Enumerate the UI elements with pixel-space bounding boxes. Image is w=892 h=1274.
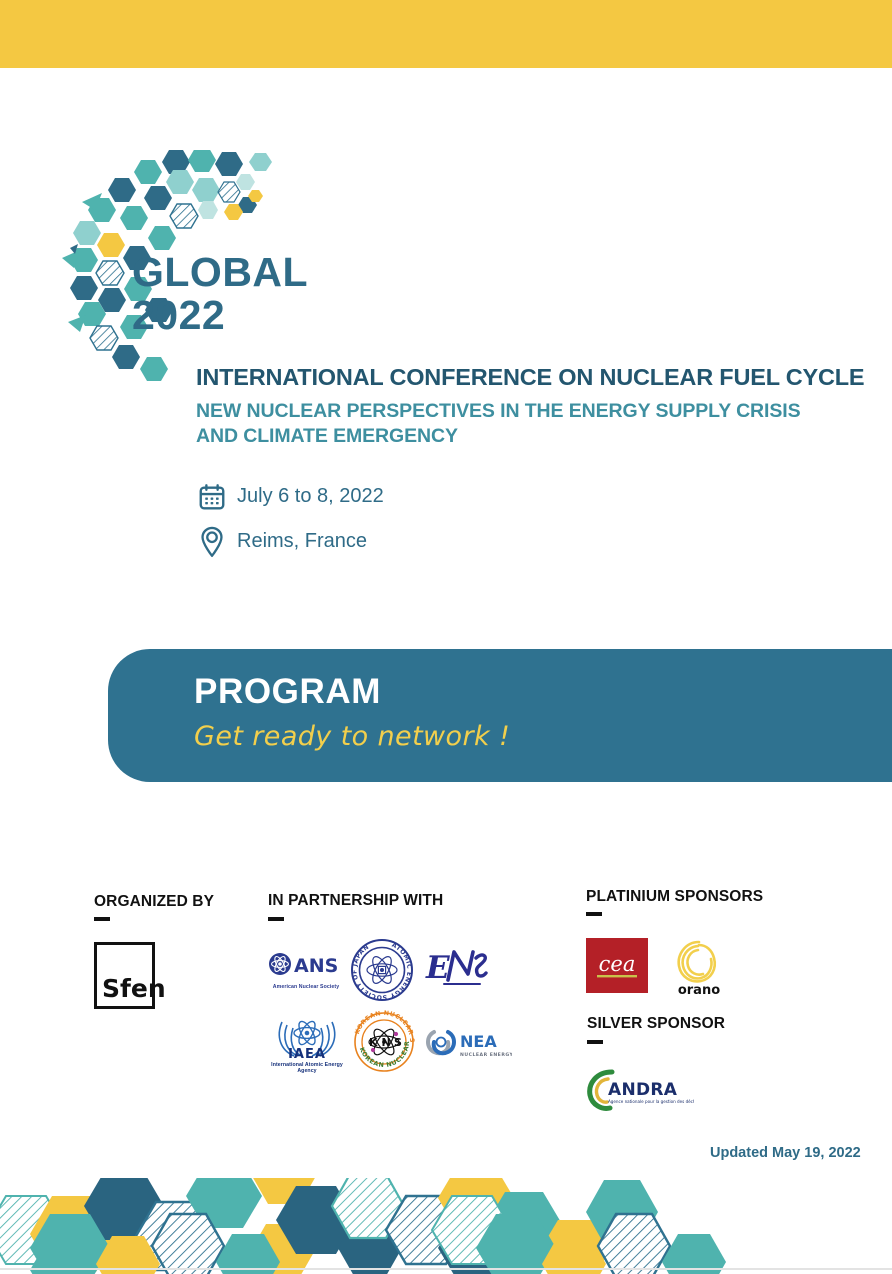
ans-logo[interactable]: ANS American Nuclear Society — [268, 948, 344, 994]
aesj-logo[interactable]: ATOMIC ENERGY SOCIETY OF JAPAN — [350, 938, 414, 1002]
in-partnership-with-heading: IN PARTNERSHIP WITH — [268, 892, 443, 910]
event-date: July 6 to 8, 2022 — [237, 485, 384, 508]
kns-logo[interactable]: K N S KOREAN NUCLEAR SOCIETY KOREAN NUCL… — [352, 1010, 416, 1074]
iaea-logo-mark: IAEA — [268, 1012, 346, 1060]
nea-logo-mark: NEA NUCLEAR ENERGY AGENCY — [424, 1024, 512, 1062]
cea-logo-mark: cea — [586, 938, 648, 993]
ens-logo[interactable]: E — [424, 944, 494, 992]
ens-logo-mark: E — [424, 944, 494, 992]
updated-date: Updated May 19, 2022 — [710, 1145, 861, 1161]
svg-text:IAEA: IAEA — [288, 1047, 326, 1060]
svg-text:ANS: ANS — [294, 955, 338, 977]
location-pin-icon — [192, 525, 232, 559]
aesj-logo-mark: ATOMIC ENERGY SOCIETY OF JAPAN — [350, 938, 414, 1002]
logo-wordmark: GLOBAL 2022 — [132, 253, 308, 334]
event-meta: July 6 to 8, 2022 Reims, France — [192, 474, 384, 564]
logo-name-line2: 2022 — [132, 296, 308, 335]
svg-text:NEA: NEA — [460, 1032, 497, 1051]
organized-by-heading: ORGANIZED BY — [94, 893, 214, 911]
program-banner: PROGRAM Get ready to network ! — [108, 649, 892, 782]
ans-logo-caption: American Nuclear Society — [268, 984, 344, 990]
conference-program-cover: GLOBAL 2022 INTERNATIONAL CONFERENCE ON … — [0, 0, 892, 1274]
svg-text:K: K — [369, 1036, 378, 1049]
andra-logo[interactable]: ANDRA Agence nationale pour la gestion d… — [586, 1068, 694, 1112]
event-location: Reims, France — [237, 530, 367, 553]
ans-logo-mark: ANS — [268, 948, 344, 982]
kns-logo-mark: K N S KOREAN NUCLEAR SOCIETY KOREAN NUCL… — [352, 1010, 416, 1074]
orano-logo-mark: orano — [668, 936, 730, 998]
svg-text:NUCLEAR ENERGY AGENCY: NUCLEAR ENERGY AGENCY — [460, 1052, 512, 1058]
svg-text:cea: cea — [599, 952, 636, 976]
sfen-logo[interactable]: Sfen — [94, 942, 155, 1009]
logo-name-line1: GLOBAL — [132, 253, 308, 292]
sfen-logo-label: Sfen — [102, 974, 166, 1003]
andra-logo-mark: ANDRA Agence nationale pour la gestion d… — [586, 1068, 694, 1112]
conference-subtitle: NEW NUCLEAR PERSPECTIVES IN THE ENERGY S… — [196, 399, 886, 449]
orano-logo[interactable]: orano — [668, 936, 730, 998]
nea-logo[interactable]: NEA NUCLEAR ENERGY AGENCY — [424, 1024, 512, 1062]
svg-text:E: E — [425, 950, 450, 986]
calendar-icon — [192, 482, 232, 512]
silver-sponsor-heading: SILVER SPONSOR — [587, 1015, 725, 1033]
program-banner-tagline: Get ready to network ! — [194, 721, 510, 752]
bottom-divider — [0, 1268, 892, 1270]
conference-subtitle-line2: AND CLIMATE EMERGENCY — [196, 424, 886, 449]
iaea-logo-caption: International Atomic Energy Agency — [268, 1062, 346, 1074]
event-location-row: Reims, France — [192, 519, 384, 564]
iaea-logo[interactable]: IAEA International Atomic Energy Agency — [268, 1012, 346, 1072]
platinium-sponsors-underline — [586, 912, 602, 916]
svg-text:N: N — [382, 1036, 391, 1049]
svg-text:orano: orano — [678, 983, 720, 998]
conference-title: INTERNATIONAL CONFERENCE ON NUCLEAR FUEL… — [196, 364, 886, 391]
platinium-sponsors-heading: PLATINIUM SPONSORS — [586, 888, 763, 906]
svg-text:ANDRA: ANDRA — [608, 1080, 678, 1100]
cea-logo[interactable]: cea — [586, 938, 648, 993]
in-partnership-with-underline — [268, 917, 284, 921]
bottom-hexagon-decoration — [0, 1178, 892, 1274]
svg-text:Agence nationale pour la gesti: Agence nationale pour la gestion des déc… — [608, 1099, 694, 1104]
silver-sponsor-underline — [587, 1040, 603, 1044]
organized-by-underline — [94, 917, 110, 921]
top-yellow-band — [0, 0, 892, 68]
conference-subtitle-line1: NEW NUCLEAR PERSPECTIVES IN THE ENERGY S… — [196, 399, 886, 424]
svg-text:S: S — [394, 1036, 402, 1049]
program-banner-title: PROGRAM — [194, 672, 381, 712]
event-date-row: July 6 to 8, 2022 — [192, 474, 384, 519]
